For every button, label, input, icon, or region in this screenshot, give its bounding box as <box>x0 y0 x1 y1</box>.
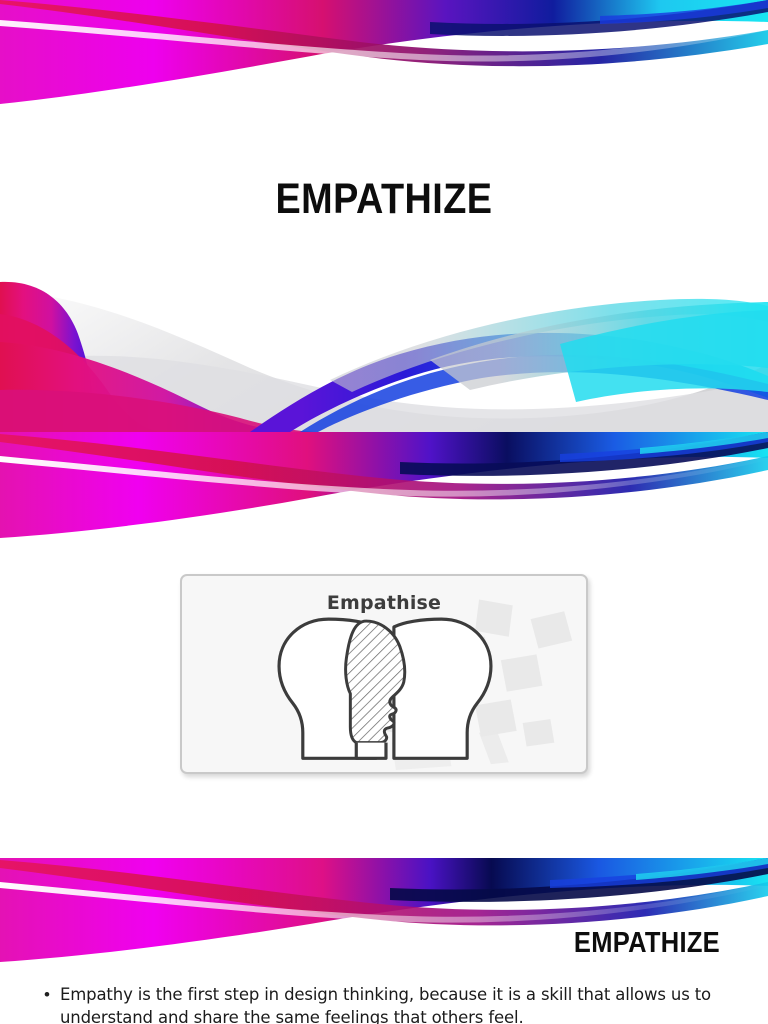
head-right-outline <box>394 619 491 758</box>
shared-figure-neck <box>356 743 386 759</box>
slide-2-top-wave-artwork <box>0 432 768 550</box>
slide-1-top-wave-artwork <box>0 0 768 116</box>
slide-document: EMPATHIZE <box>0 0 768 1024</box>
slide-3-bullet-list: • Empathy is the first step in design th… <box>44 983 742 1024</box>
slide-1: EMPATHIZE <box>0 0 768 432</box>
bullet-text: Empathy is the first step in design thin… <box>60 983 742 1024</box>
slide-1-bottom-wave-artwork <box>0 272 768 432</box>
slide-3: EMPATHIZE • Empathy is the first step in… <box>0 858 768 1024</box>
slide-2: Empathise <box>0 432 768 858</box>
slide-1-title: EMPATHIZE <box>46 172 722 226</box>
empathise-figure-caption: Empathise <box>182 592 586 614</box>
list-item: • Empathy is the first step in design th… <box>44 983 742 1024</box>
empathise-figure-card: Empathise <box>180 574 588 774</box>
bullet-marker: • <box>44 983 50 1006</box>
slide-3-title: EMPATHIZE <box>574 925 720 961</box>
